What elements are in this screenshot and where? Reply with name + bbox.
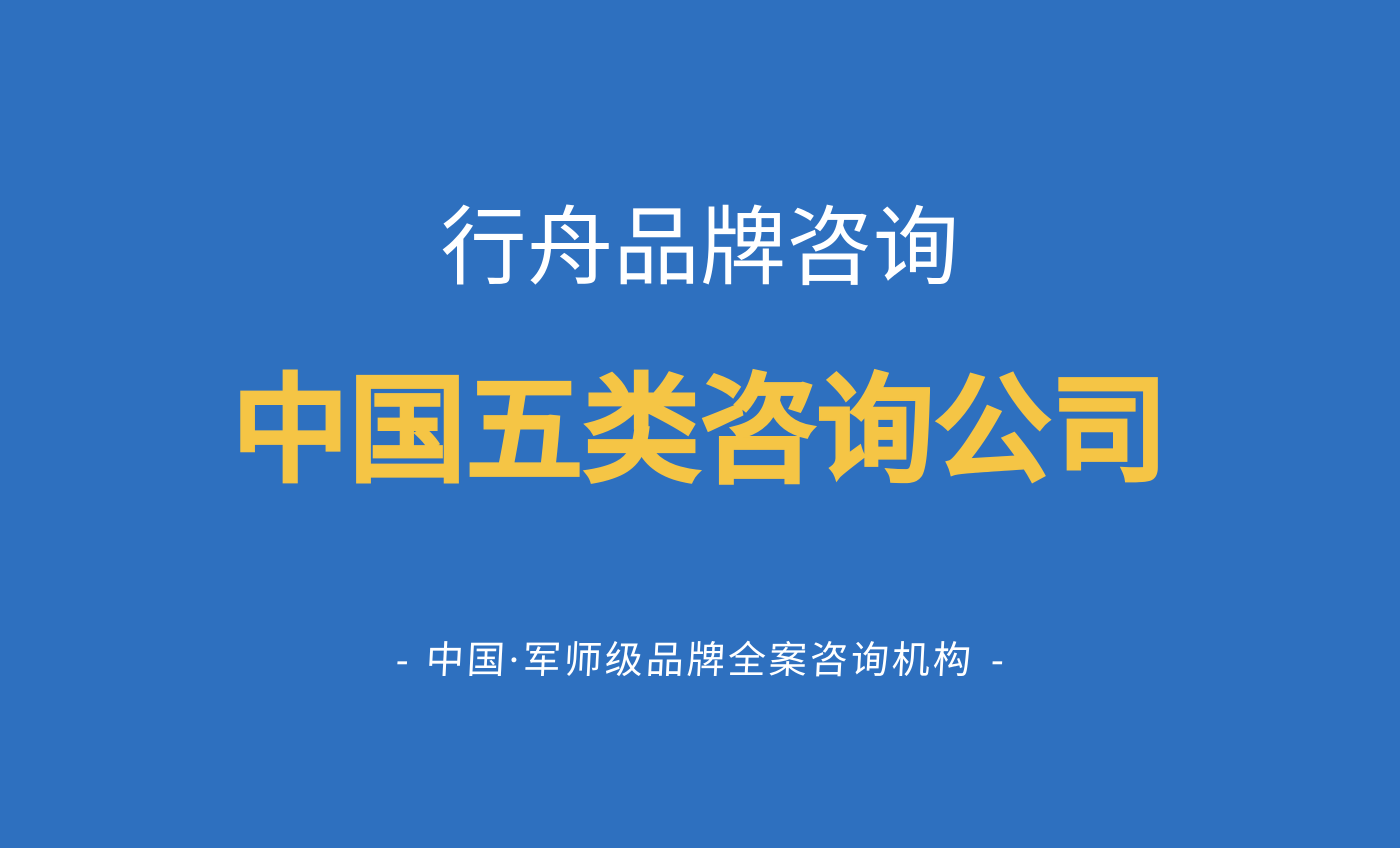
page-title: 中国五类咨询公司 [232,371,1168,490]
brand-name: 行舟品牌咨询 [441,202,960,295]
brand-line: 行舟品牌咨询 [0,192,1400,304]
tagline-trail-rule: - [988,639,1007,681]
tagline-line: - 中国·军师级品牌全案咨询机构 - [0,628,1400,690]
tagline: - 中国·军师级品牌全案咨询机构 - [393,637,1007,681]
title-slide: 行舟品牌咨询 中国五类咨询公司 - 中国·军师级品牌全案咨询机构 - [0,0,1400,848]
headline-line: 中国五类咨询公司 [0,360,1400,502]
tagline-lead-rule: - [393,639,412,681]
slide-content: 行舟品牌咨询 中国五类咨询公司 - 中国·军师级品牌全案咨询机构 - [0,0,1400,848]
tagline-text: 中国·军师级品牌全案咨询机构 [425,639,975,681]
